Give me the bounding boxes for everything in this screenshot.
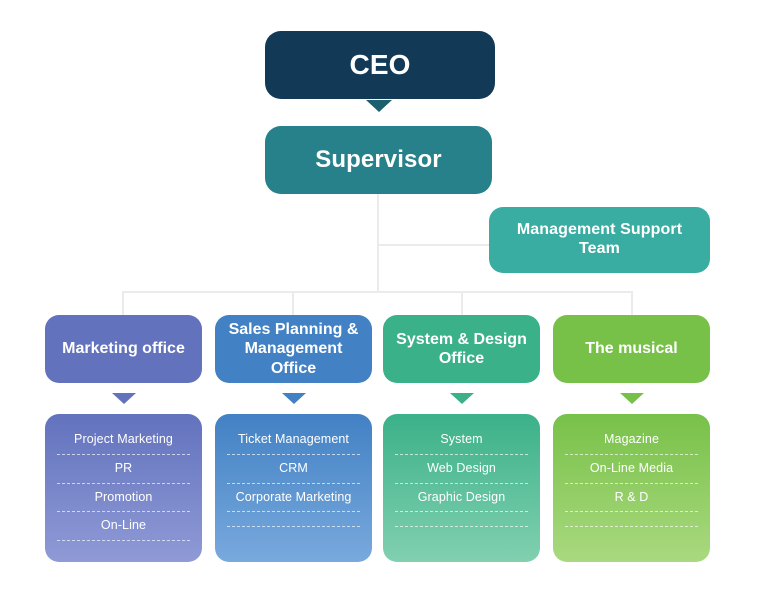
list-item[interactable]: R & D	[565, 484, 698, 513]
arrow-down-icon-ceo-to-supervisor	[366, 100, 392, 112]
node-department-system-design-office[interactable]: System & Design Office	[383, 315, 540, 383]
list-item[interactable]: Corporate Marketing	[227, 484, 360, 513]
sub-items-the-musical: Magazine On-Line Media R & D	[553, 414, 710, 562]
list-item[interactable]: Web Design	[395, 455, 528, 484]
connector-department-bus	[122, 291, 632, 293]
node-management-support-team[interactable]: Management Support Team	[489, 207, 710, 273]
node-supervisor[interactable]: Supervisor	[265, 126, 492, 194]
department-column-the-musical: The musical Magazine On-Line Media R & D	[553, 315, 710, 562]
list-item[interactable]: System	[395, 426, 528, 455]
list-item[interactable]: On-Line Media	[565, 455, 698, 484]
arrow-down-icon-marketing-office	[112, 393, 136, 404]
arrow-down-icon-system-design-office	[450, 393, 474, 404]
sub-items-system-design-office: System Web Design Graphic Design	[383, 414, 540, 562]
department-column-system-design-office: System & Design Office System Web Design…	[383, 315, 540, 562]
node-department-the-musical[interactable]: The musical	[553, 315, 710, 383]
sub-items-sales-planning-management-office: Ticket Management CRM Corporate Marketin…	[215, 414, 372, 562]
department-column-sales-planning-management-office: Sales Planning & Management Office Ticke…	[215, 315, 372, 562]
arrow-down-icon-sales-planning-management-office	[282, 393, 306, 404]
connector-supervisor-trunk	[377, 194, 379, 292]
org-chart: CEO Supervisor Management Support Team M…	[0, 0, 758, 597]
sub-items-marketing-office: Project Marketing PR Promotion On-Line	[45, 414, 202, 562]
list-item[interactable]: CRM	[227, 455, 360, 484]
node-ceo[interactable]: CEO	[265, 31, 495, 99]
list-item[interactable]: Magazine	[565, 426, 698, 455]
connector-drop-the-musical	[631, 291, 633, 316]
list-item[interactable]: PR	[57, 455, 190, 484]
list-item[interactable]: Ticket Management	[227, 426, 360, 455]
list-item[interactable]: Graphic Design	[395, 484, 528, 513]
department-column-marketing-office: Marketing office Project Marketing PR Pr…	[45, 315, 202, 562]
connector-drop-sales-planning	[292, 291, 294, 316]
list-item-empty	[565, 512, 698, 527]
connector-drop-marketing-office	[122, 291, 124, 316]
connector-drop-system-design	[461, 291, 463, 316]
node-department-marketing-office[interactable]: Marketing office	[45, 315, 202, 383]
list-item[interactable]: Project Marketing	[57, 426, 190, 455]
arrow-down-icon-the-musical	[620, 393, 644, 404]
list-item-empty	[395, 512, 528, 527]
node-department-sales-planning-management-office[interactable]: Sales Planning & Management Office	[215, 315, 372, 383]
list-item[interactable]: On-Line	[57, 512, 190, 541]
list-item[interactable]: Promotion	[57, 484, 190, 513]
list-item-empty	[227, 512, 360, 527]
connector-to-management-support-team	[377, 244, 491, 246]
